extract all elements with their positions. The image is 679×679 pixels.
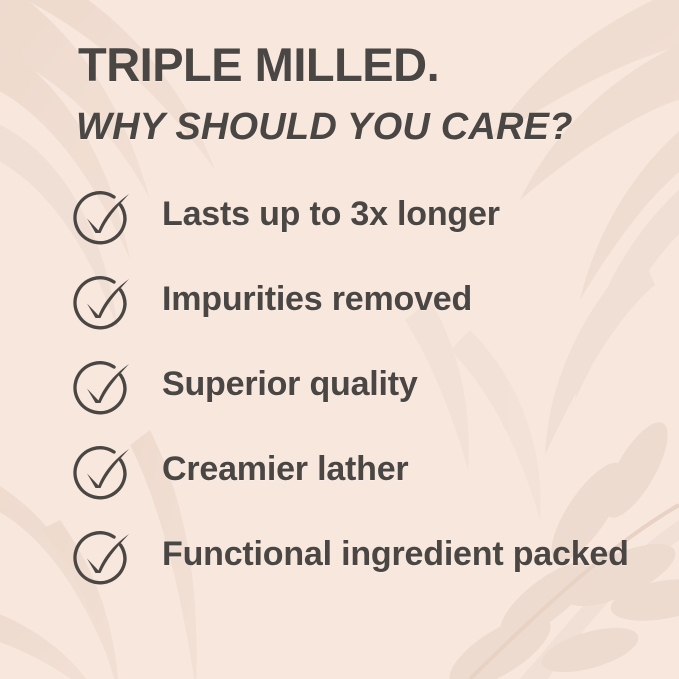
list-item-label: Lasts up to 3x longer — [162, 186, 640, 234]
page-title: TRIPLE MILLED. — [78, 41, 439, 88]
list-item: Lasts up to 3x longer — [70, 186, 640, 250]
page-subtitle: WHY SHOULD YOU CARE? — [76, 108, 573, 146]
benefit-list: Lasts up to 3x longer Impurities removed… — [70, 186, 640, 611]
check-circle-icon — [70, 441, 134, 505]
list-item: Creamier lather — [70, 441, 640, 505]
list-item: Functional ingredient packed — [70, 526, 640, 590]
list-item: Impurities removed — [70, 271, 640, 335]
product-benefits-poster: TRIPLE MILLED. WHY SHOULD YOU CARE? Last… — [0, 0, 679, 679]
check-circle-icon — [70, 526, 134, 590]
list-item-label: Functional ingredient packed — [162, 526, 640, 574]
check-circle-icon — [70, 186, 134, 250]
list-item-label: Superior quality — [162, 356, 640, 404]
list-item: Superior quality — [70, 356, 640, 420]
check-circle-icon — [70, 356, 134, 420]
list-item-label: Creamier lather — [162, 441, 640, 489]
check-circle-icon — [70, 271, 134, 335]
list-item-label: Impurities removed — [162, 271, 640, 319]
